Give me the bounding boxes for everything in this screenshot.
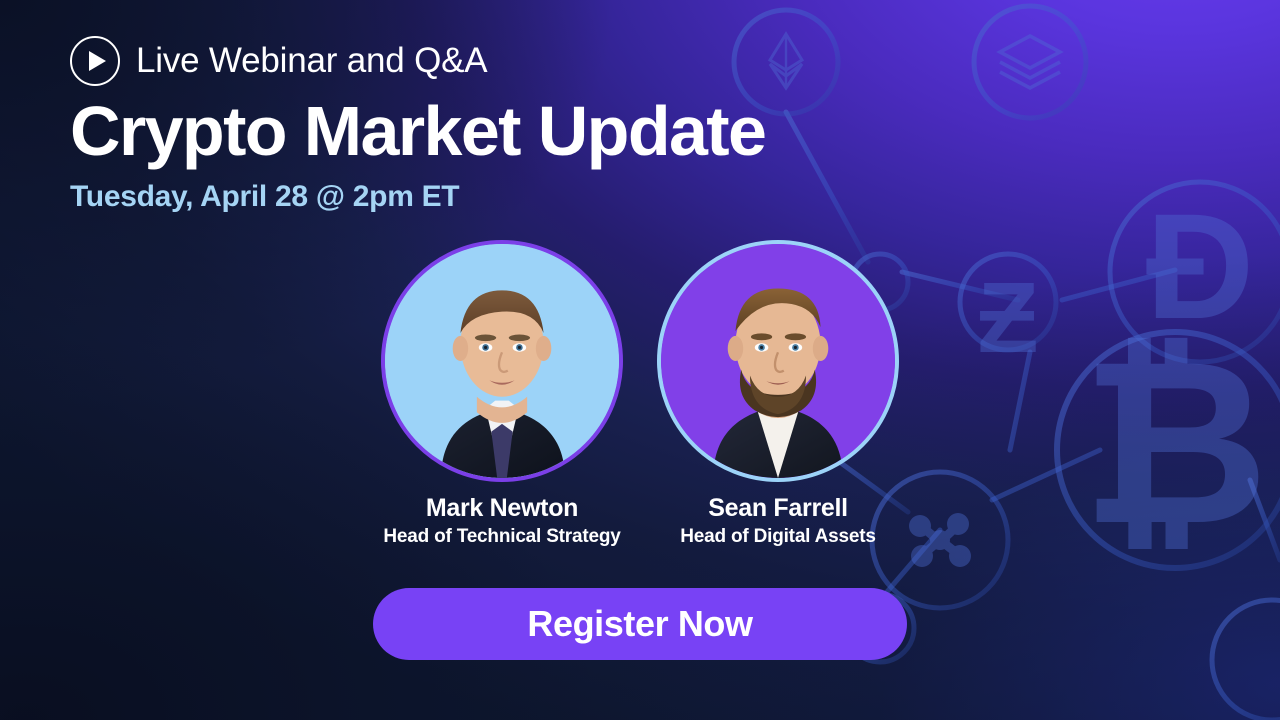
avatar <box>381 240 623 482</box>
event-datetime: Tuesday, April 28 @ 2pm ET <box>70 180 765 214</box>
register-now-button[interactable]: Register Now <box>373 588 907 660</box>
speaker-list: Mark Newton Head of Technical Strategy <box>0 240 1280 548</box>
speaker-card: Mark Newton Head of Technical Strategy <box>381 240 623 548</box>
page-title: Crypto Market Update <box>70 94 765 170</box>
eyebrow-label: Live Webinar and Q&A <box>136 41 487 81</box>
speaker-card: Sean Farrell Head of Digital Assets <box>657 240 899 548</box>
speaker-name: Mark Newton <box>381 494 623 523</box>
webinar-poster: Đ Ƶ ₿ Live Webinar and Q&A Crypto Market… <box>0 0 1280 720</box>
play-circle-icon <box>70 36 120 86</box>
headshot-mark-newton <box>385 244 619 478</box>
speaker-title: Head of Technical Strategy <box>381 526 623 548</box>
speaker-title: Head of Digital Assets <box>657 526 899 548</box>
headshot-sean-farrell <box>661 244 895 478</box>
eyebrow-row: Live Webinar and Q&A <box>70 36 765 86</box>
speaker-name: Sean Farrell <box>657 494 899 523</box>
cta-container: Register Now <box>0 588 1280 660</box>
avatar <box>657 240 899 482</box>
poster-header: Live Webinar and Q&A Crypto Market Updat… <box>70 36 765 214</box>
